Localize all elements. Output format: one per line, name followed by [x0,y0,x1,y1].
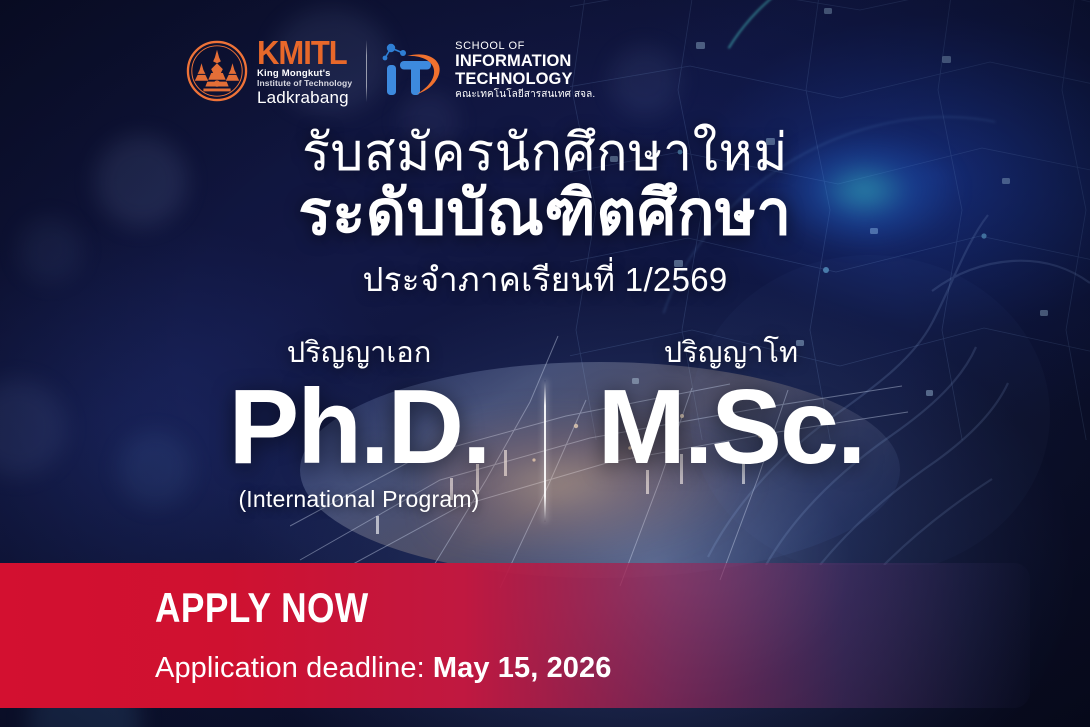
school-line3: TECHNOLOGY [455,71,595,88]
kmitl-line2: Institute of Technology [257,79,352,88]
kmitl-line3: Ladkrabang [257,89,352,106]
it-monogram-icon [381,41,447,101]
deadline-date: May 15, 2026 [433,652,612,684]
degree-label-thai: ปริญญาโท [664,338,798,370]
school-line4-thai: คณะเทคโนโลยีสารสนเทศ สจล. [455,90,595,101]
degree-column-msc: ปริญญาโท M.Sc. [546,338,916,486]
school-line2: INFORMATION [455,53,595,70]
deadline-label: Application deadline: [155,652,425,684]
logo-divider [366,40,367,102]
degree-abbrev: Ph.D. [229,374,490,480]
headline-block: รับสมัครนักศึกษาใหม่ ระดับบัณฑิตศึกษา ปร… [0,124,1090,300]
kmitl-logo: KMITL King Mongkut's Institute of Techno… [186,36,352,106]
headline-line-1: รับสมัครนักศึกษาใหม่ [0,124,1090,182]
admissions-poster: KMITL King Mongkut's Institute of Techno… [0,0,1090,727]
kmitl-acronym: KMITL [257,36,352,69]
kmitl-royal-seal-icon [186,40,248,102]
degree-abbrev: M.Sc. [598,374,865,480]
school-of-it-logo: SCHOOL OF INFORMATION TECHNOLOGY คณะเทคโ… [381,41,595,101]
school-of-it-wordmark: SCHOOL OF INFORMATION TECHNOLOGY คณะเทคโ… [455,41,595,100]
kmitl-wordmark: KMITL King Mongkut's Institute of Techno… [257,36,352,106]
degree-label-thai: ปริญญาเอก [287,338,432,370]
application-deadline: Application deadline: May 15, 2026 [155,652,611,685]
headline-line-3: ประจำภาคเรียนที่ 1/2569 [0,260,1090,300]
apply-now-title: APPLY NOW [155,584,369,632]
degree-section: ปริญญาเอก Ph.D. (International Program) … [0,338,1090,522]
degree-note: (International Program) [238,486,479,513]
logo-row: KMITL King Mongkut's Institute of Techno… [186,36,595,106]
headline-line-2: ระดับบัณฑิตศึกษา [0,178,1090,250]
degree-column-phd: ปริญญาเอก Ph.D. (International Program) [174,338,544,513]
